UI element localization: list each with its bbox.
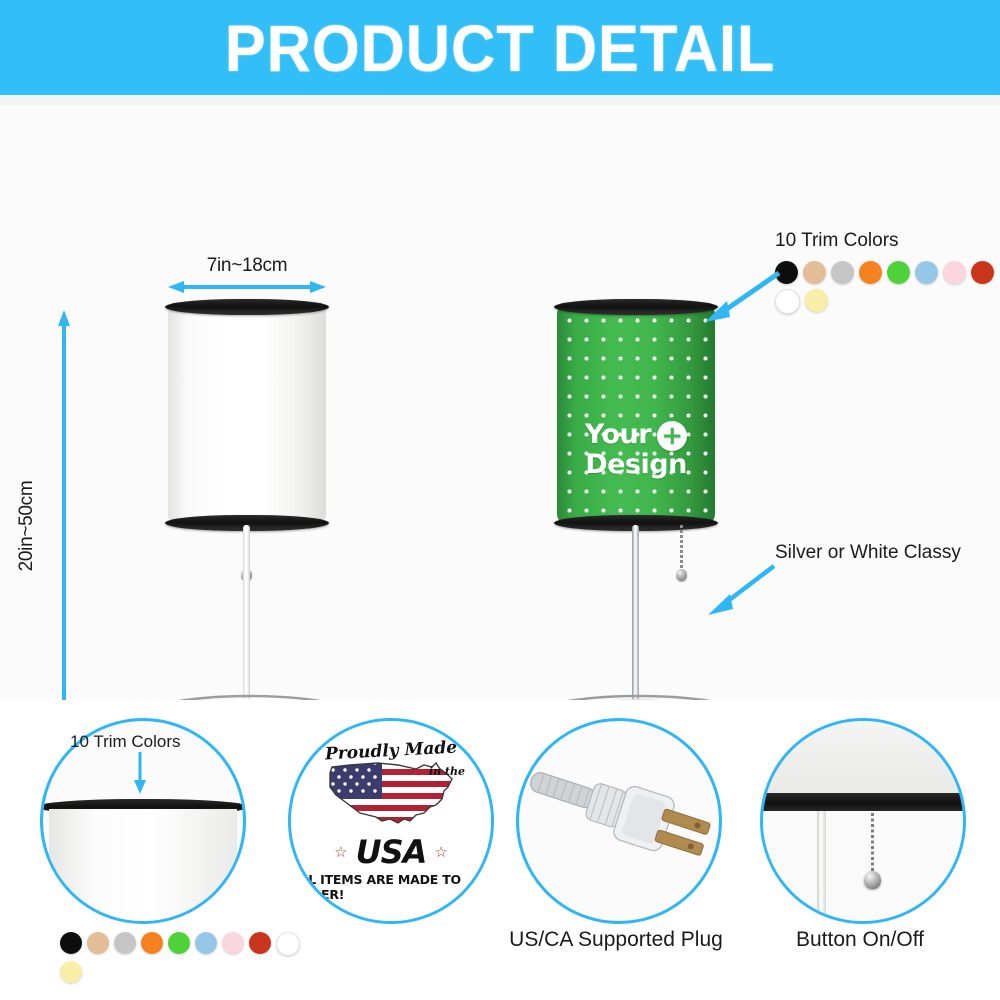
design-line-1-row: Your + — [557, 421, 715, 451]
trim-swatch-pink[interactable] — [943, 261, 966, 284]
usa-subtext: ALL ITEMS ARE MADE TO ORDER! — [291, 872, 491, 902]
made-in-usa-circle: Proudly Made in the — [288, 718, 494, 924]
trim-color-swatches[interactable] — [775, 261, 1000, 314]
base-finish-arrow — [700, 560, 780, 620]
pull-chain-bead[interactable] — [676, 569, 687, 581]
add-design-icon[interactable]: + — [657, 421, 687, 451]
design-line-2: Design — [557, 451, 715, 479]
page-banner: PRODUCT DETAIL — [0, 0, 1000, 95]
pull-chain-bead-closeup[interactable] — [864, 871, 881, 889]
page-title: PRODUCT DETAIL — [225, 15, 776, 81]
trim-swatch-light-blue[interactable] — [195, 932, 217, 954]
feature-highlights: 10 Trim Colors Proudly Made in the — [0, 700, 1000, 1000]
trim-swatch-pink[interactable] — [222, 932, 244, 954]
height-dimension-arrow — [58, 310, 70, 738]
switch-circle — [760, 718, 966, 924]
trim-colors-down-arrow — [132, 752, 148, 794]
pull-chain[interactable] — [680, 525, 683, 573]
trim-swatch-red[interactable] — [249, 932, 271, 954]
lamp-pole-closeup — [817, 811, 826, 923]
trim-swatch-red[interactable] — [971, 261, 994, 284]
usa-badge: Proudly Made in the — [291, 721, 491, 921]
trim-swatch-tan[interactable] — [803, 261, 826, 284]
closeup-background — [760, 811, 966, 923]
lamp-pole — [243, 525, 250, 705]
trim-swatch-white[interactable] — [276, 932, 300, 956]
height-dimension-label: 20in~50cm — [16, 386, 38, 666]
feature-trim-swatches[interactable] — [60, 932, 300, 983]
trim-swatch-green[interactable] — [168, 932, 190, 954]
power-plug-icon — [519, 721, 719, 921]
trim-colors-mini-label: 10 Trim Colors — [70, 732, 181, 752]
plug-caption: US/CA Supported Plug — [496, 928, 736, 952]
usa-inthe-text: in the — [429, 765, 465, 778]
trim-colors-panel: 10 Trim Colors — [775, 230, 1000, 314]
trim-swatch-green[interactable] — [887, 261, 910, 284]
switch-caption: Button On/Off — [760, 928, 960, 952]
white-lamp-shade — [168, 305, 326, 523]
usa-wordmark-row: ☆ USA ☆ — [334, 833, 448, 871]
trim-swatch-yellow[interactable] — [60, 961, 82, 983]
product-detail-page: PRODUCT DETAIL 7in~18cm 20in~50cm — [0, 0, 1000, 1000]
trim-swatch-black[interactable] — [60, 932, 82, 954]
trim-swatch-yellow[interactable] — [805, 289, 828, 312]
lamp-pole — [632, 525, 639, 705]
trim-swatch-tan[interactable] — [87, 932, 109, 954]
trim-swatch-gray[interactable] — [831, 261, 854, 284]
shade-trim-top — [554, 299, 718, 315]
trim-swatch-orange[interactable] — [859, 261, 882, 284]
shade-bottom-closeup — [760, 721, 966, 793]
usa-wordmark: USA — [356, 833, 427, 871]
shade-surface-closeup — [49, 809, 237, 924]
pull-chain-closeup[interactable] — [871, 813, 874, 875]
design-line-1: Your — [585, 421, 651, 449]
width-dimension-label: 7in~18cm — [168, 255, 326, 277]
plug-circle — [516, 718, 722, 924]
trim-swatch-light-blue[interactable] — [915, 261, 938, 284]
shade-trim-top — [165, 299, 329, 315]
shade-design-text: Your + Design — [557, 421, 715, 479]
trim-swatch-gray[interactable] — [114, 932, 136, 954]
trim-swatch-orange[interactable] — [141, 932, 163, 954]
star-left-icon: ☆ — [334, 843, 347, 861]
star-right-icon: ☆ — [434, 843, 447, 861]
trim-colors-title: 10 Trim Colors — [775, 230, 1000, 252]
base-finish-label: Silver or White Classy — [775, 542, 961, 564]
trim-callout-arrow — [695, 265, 785, 325]
custom-lamp-shade[interactable]: Your + Design — [557, 305, 715, 523]
banner-divider — [0, 95, 1000, 105]
lamp-showcase: 7in~18cm 20in~50cm — [0, 105, 1000, 700]
shade-dot-pattern — [557, 305, 715, 523]
trim-ring-closeup — [760, 793, 966, 811]
shade-surface — [168, 305, 326, 523]
width-dimension-arrow — [168, 281, 326, 293]
